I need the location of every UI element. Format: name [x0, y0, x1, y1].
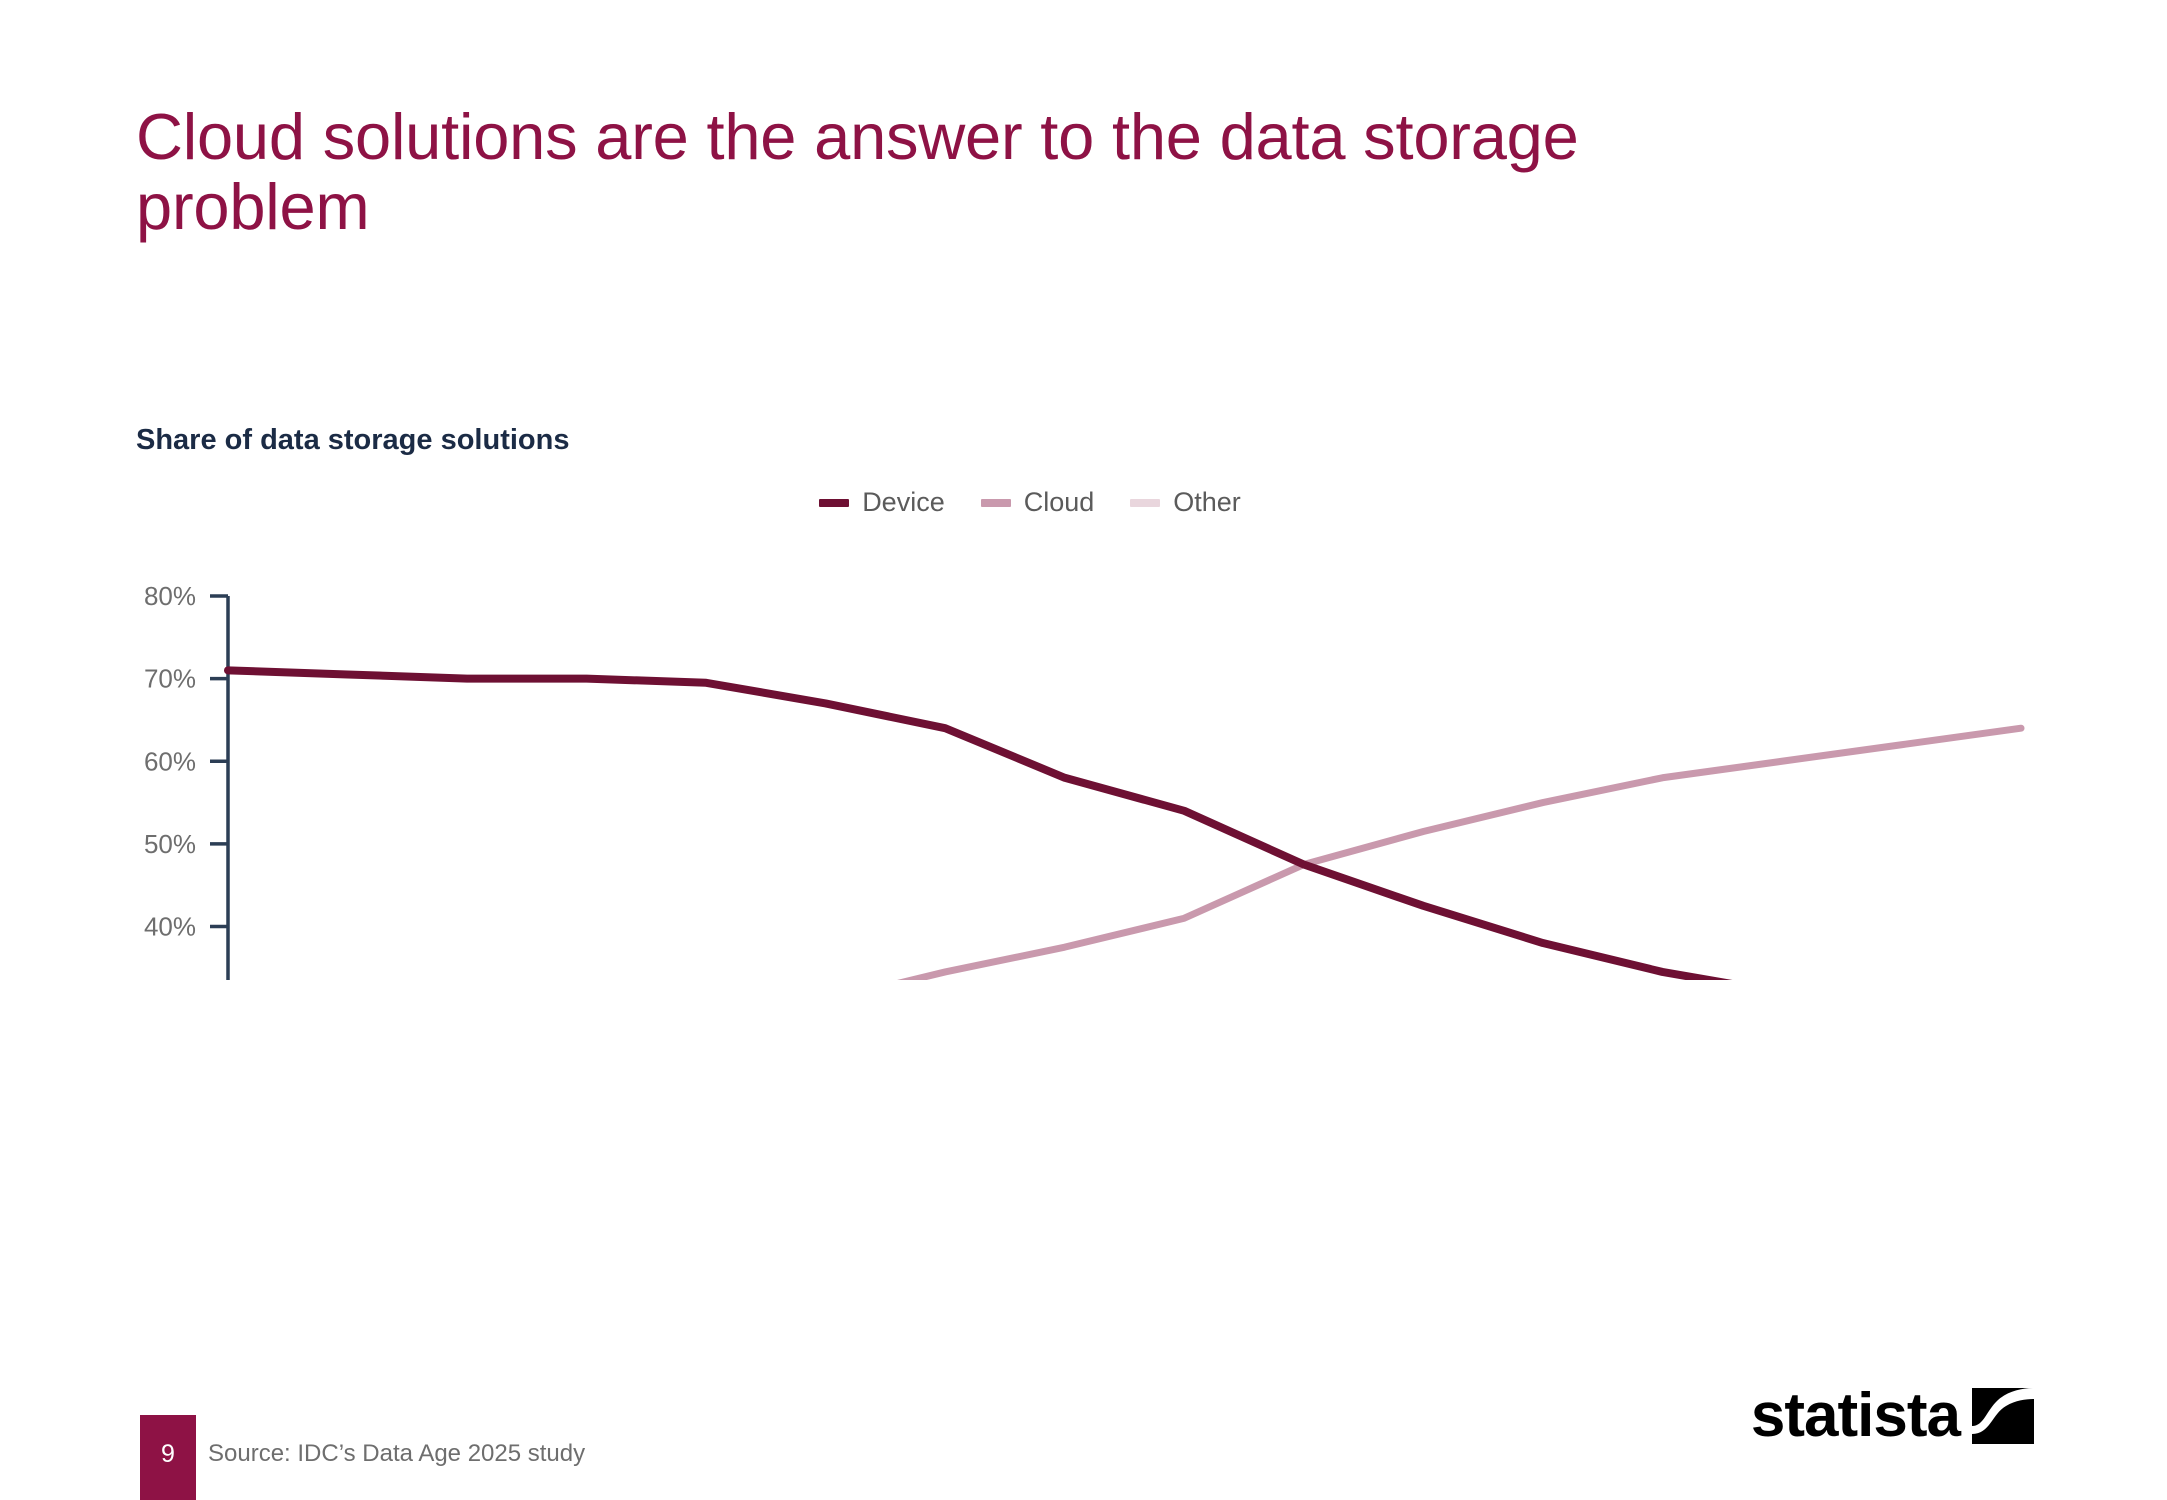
legend-label-device: Device [862, 487, 945, 518]
line-chart: 010%20%30%40%50%60%70%80%201020112012201… [0, 560, 2167, 980]
legend-swatch-device [819, 499, 849, 507]
legend-label-cloud: Cloud [1024, 487, 1095, 518]
statista-logomark-icon [1972, 1388, 2034, 1444]
chart-subtitle: Share of data storage solutions [136, 424, 569, 457]
page-number-badge: 9 [140, 1415, 196, 1500]
legend-item-other[interactable]: Other [1130, 487, 1241, 518]
source-note: Source: IDC’s Data Age 2025 study [208, 1440, 585, 1468]
series-line-cloud [228, 728, 2021, 980]
legend-item-cloud[interactable]: Cloud [981, 487, 1095, 518]
legend-label-other: Other [1173, 487, 1241, 518]
chart-plot-area: 010%20%30%40%50%60%70%80%201020112012201… [0, 560, 2167, 980]
y-axis-tick-label: 50% [144, 829, 196, 859]
legend-swatch-cloud [981, 499, 1011, 507]
y-axis-tick-label: 40% [144, 912, 196, 942]
y-axis-tick-label: 60% [144, 746, 196, 776]
y-axis-tick-label: 80% [144, 581, 196, 611]
page-title: Cloud solutions are the answer to the da… [136, 102, 2016, 242]
legend-swatch-other [1130, 499, 1160, 507]
statista-wordmark: statista [1751, 1385, 1960, 1447]
slide-canvas: Cloud solutions are the answer to the da… [0, 0, 2167, 1500]
chart-legend: Device Cloud Other [0, 487, 2060, 518]
statista-logo: statista [1751, 1385, 2034, 1447]
y-axis-tick-label: 70% [144, 664, 196, 694]
legend-item-device[interactable]: Device [819, 487, 945, 518]
